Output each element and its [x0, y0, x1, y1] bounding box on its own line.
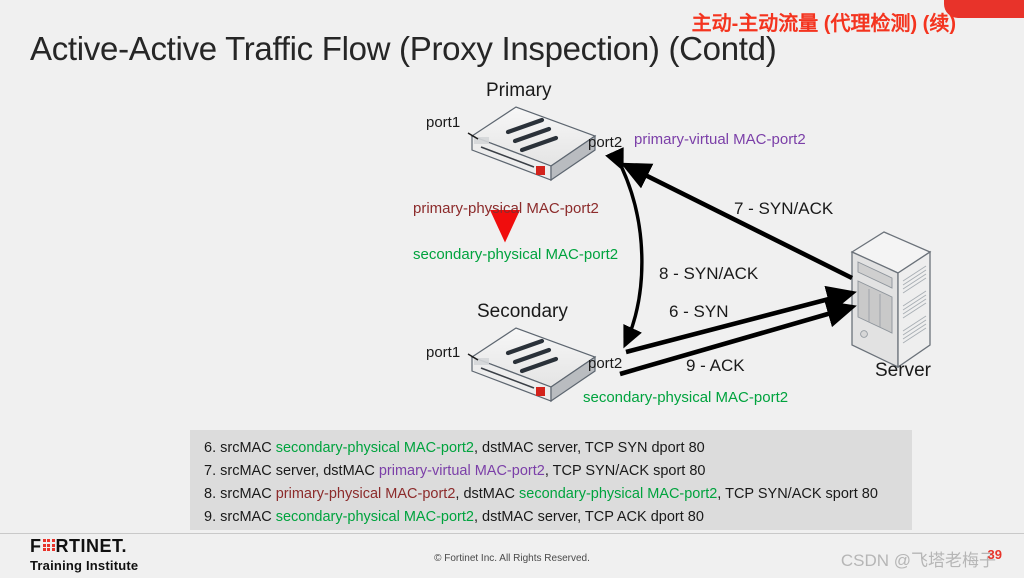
arrow-7-syn-ack: [625, 165, 852, 278]
packet-line-6-mid: , dstMAC server, TCP SYN dport 80: [474, 440, 705, 456]
primary-port1-label: port1: [426, 114, 460, 131]
primary-fortigate-device: [472, 107, 595, 180]
packet-line-8-prefix: 8. srcMAC: [204, 486, 276, 502]
secondary-port2-label: port2: [588, 355, 622, 372]
packet-line-7-prefix: 7. srcMAC server, dstMAC: [204, 463, 379, 479]
packet-line-8-tail: , TCP SYN/ACK sport 80: [717, 486, 878, 502]
packet-line-7: 7. srcMAC server, dstMAC primary-virtual…: [204, 463, 705, 479]
accent-tab-decoration: [944, 0, 1024, 18]
packet-line-6-mac1: secondary-physical MAC-port2: [276, 440, 474, 456]
packet-line-9-mac1: secondary-physical MAC-port2: [276, 509, 474, 525]
secondary-physical-mac-label: secondary-physical MAC-port2: [583, 389, 788, 406]
packet-line-9-prefix: 9. srcMAC: [204, 509, 276, 525]
arrow-8-syn-ack: [622, 168, 642, 345]
arrow-6-syn: [626, 293, 852, 352]
packet-line-8-mac1: primary-physical MAC-port2: [276, 486, 456, 502]
packet-line-6-prefix: 6. srcMAC: [204, 440, 276, 456]
server-device: [852, 232, 930, 367]
slide-canvas: 主动-主动流量 (代理检测) (续) Active-Active Traffic…: [0, 0, 1024, 578]
packet-line-8-mac2: secondary-physical MAC-port2: [519, 486, 717, 502]
secondary-port1-label: port1: [426, 344, 460, 361]
packet-line-7-mid: , TCP SYN/ACK sport 80: [545, 463, 706, 479]
primary-port2-label: port2: [588, 134, 622, 151]
packet-line-8-mid: , dstMAC: [455, 486, 519, 502]
page-number: 39: [988, 547, 1002, 562]
page-title: Active-Active Traffic Flow (Proxy Inspec…: [30, 30, 776, 68]
primary-device-label: Primary: [486, 80, 551, 102]
packet-line-9-mid: , dstMAC server, TCP ACK dport 80: [474, 509, 704, 525]
packet-line-7-mac1: primary-virtual MAC-port2: [379, 463, 545, 479]
packet-detail-box: 6. srcMAC secondary-physical MAC-port2, …: [190, 430, 912, 530]
csdn-watermark: CSDN @飞塔老梅子: [841, 546, 996, 571]
packet-line-8: 8. srcMAC primary-physical MAC-port2, ds…: [204, 486, 878, 502]
footer-divider: [0, 533, 1024, 534]
fortinet-grid-icon: [43, 539, 55, 551]
flow-label-8: 8 - SYN/ACK: [659, 264, 758, 284]
secondary-device-label: Secondary: [477, 301, 568, 323]
packet-line-9: 9. srcMAC secondary-physical MAC-port2, …: [204, 509, 704, 525]
flow-label-9: 9 - ACK: [686, 356, 745, 376]
packet-line-6: 6. srcMAC secondary-physical MAC-port2, …: [204, 440, 705, 456]
secondary-fortigate-device: [472, 328, 595, 401]
flow-label-7: 7 - SYN/ACK: [734, 199, 833, 219]
server-device-label: Server: [875, 360, 931, 382]
primary-virtual-mac-label: primary-virtual MAC-port2: [634, 131, 806, 148]
flow-label-6: 6 - SYN: [669, 302, 729, 322]
mac-translation-to-label: secondary-physical MAC-port2: [413, 246, 618, 263]
mac-translation-from-label: primary-physical MAC-port2: [413, 200, 599, 217]
